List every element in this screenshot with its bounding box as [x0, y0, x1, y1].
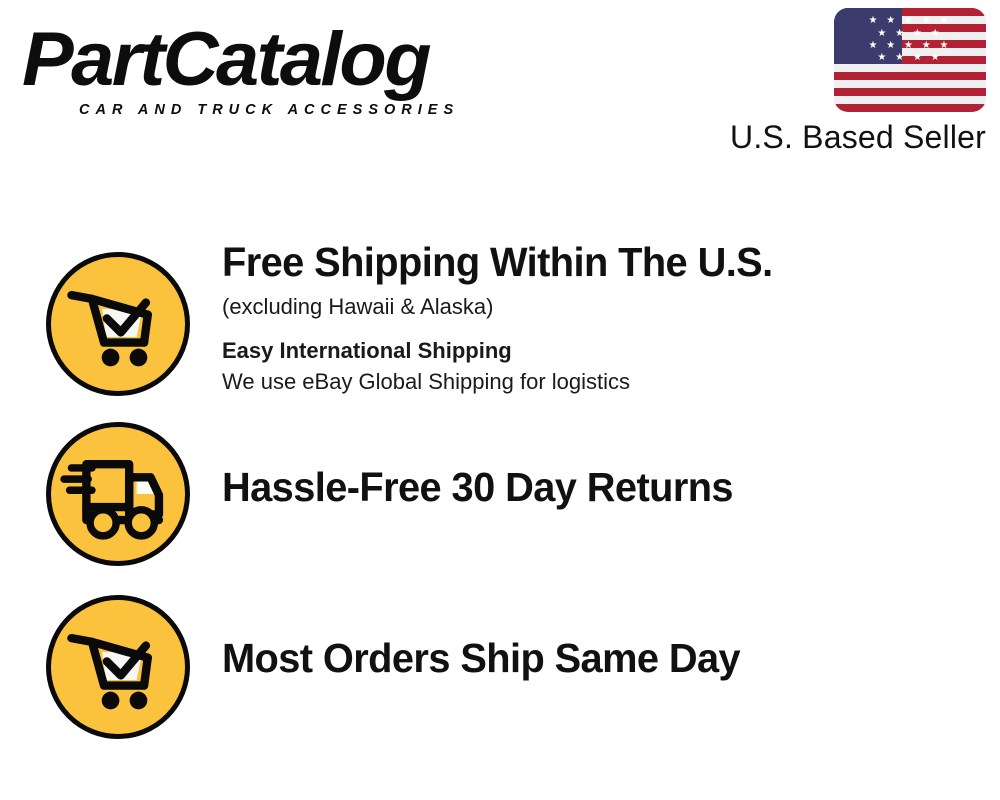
- feature-text: Hassle-Free 30 Day Returns: [222, 463, 980, 511]
- feature-subtext-strong: Easy International Shipping: [222, 336, 980, 366]
- flag-star-row: ★ ★ ★ ★ ★: [834, 16, 986, 26]
- feature-subtext: (excluding Hawaii & Alaska): [222, 292, 980, 322]
- feature-subtext: We use eBay Global Shipping for logistic…: [222, 367, 980, 397]
- shopping-cart-check-icon: [46, 595, 190, 739]
- delivery-truck-icon: [46, 422, 190, 566]
- feature-text: Most Orders Ship Same Day: [222, 634, 980, 682]
- feature-list: Free Shipping Within The U.S. (excluding…: [0, 230, 1000, 743]
- feature-row: Free Shipping Within The U.S. (excluding…: [0, 230, 1000, 400]
- shopping-cart-check-icon: [46, 252, 190, 396]
- feature-text: Free Shipping Within The U.S. (excluding…: [222, 238, 980, 397]
- brand-logo[interactable]: PartCatalog CAR AND TRUCK ACCESSORIES: [22, 18, 492, 118]
- feature-heading: Most Orders Ship Same Day: [222, 634, 957, 682]
- feature-row: Hassle-Free 30 Day Returns: [0, 400, 1000, 573]
- brand-tagline: CAR AND TRUCK ACCESSORIES: [79, 102, 459, 118]
- brand-wordmark: PartCatalog: [22, 18, 501, 102]
- seller-label: U.S. Based Seller: [686, 118, 986, 156]
- us-flag-icon: ★ ★ ★ ★ ★ ★ ★ ★ ★ ★ ★ ★ ★ ★ ★ ★ ★ ★: [834, 8, 986, 112]
- feature-heading: Hassle-Free 30 Day Returns: [222, 463, 957, 511]
- flag-star-row: ★ ★ ★ ★ ★: [834, 41, 986, 51]
- flag-star-row: ★ ★ ★ ★: [834, 53, 986, 63]
- flag-star-row: ★ ★ ★ ★: [834, 29, 986, 39]
- feature-row: Most Orders Ship Same Day: [0, 573, 1000, 743]
- feature-heading: Free Shipping Within The U.S.: [222, 238, 957, 286]
- seller-block: ★ ★ ★ ★ ★ ★ ★ ★ ★ ★ ★ ★ ★ ★ ★ ★ ★ ★ U.S.…: [686, 8, 986, 156]
- page-header: PartCatalog CAR AND TRUCK ACCESSORIES ★ …: [0, 0, 1000, 175]
